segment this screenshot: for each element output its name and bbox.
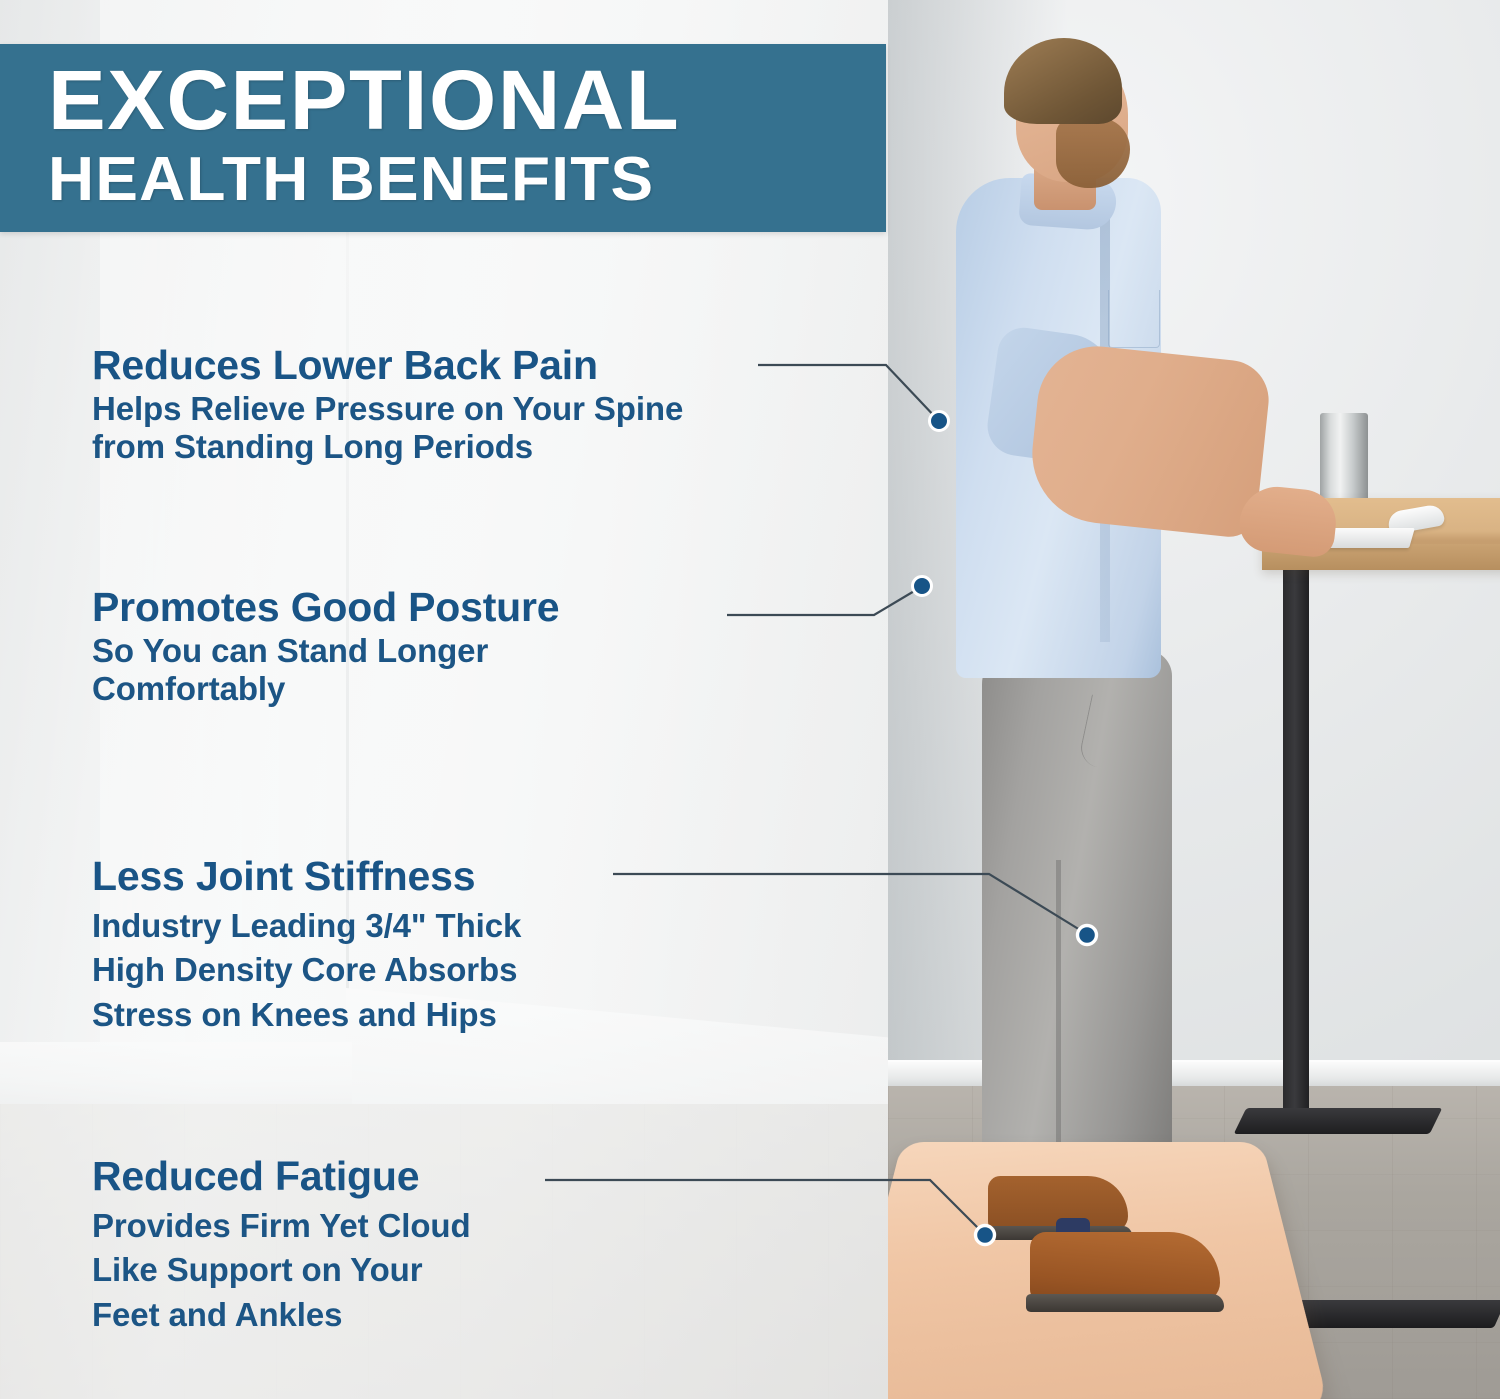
benefit-description-line: from Standing Long Periods xyxy=(92,428,683,467)
product-photo xyxy=(888,0,1500,1399)
banner-title-line1: EXCEPTIONAL xyxy=(48,61,911,140)
benefit-title: Less Joint Stiffness xyxy=(92,855,521,898)
header-banner: EXCEPTIONAL HEALTH BENEFITS xyxy=(0,44,886,232)
banner-title-line2: HEALTH BENEFITS xyxy=(48,149,911,211)
desk-leg-column xyxy=(1283,570,1309,1130)
pants-leg-seam xyxy=(1056,860,1061,1170)
front-shoe-sole xyxy=(1026,1294,1224,1312)
desk-foot-front xyxy=(1234,1108,1443,1134)
benefit-description-line: Stress on Knees and Hips xyxy=(92,993,521,1038)
steel-tumbler xyxy=(1320,413,1368,505)
benefit-description-line: Provides Firm Yet Cloud xyxy=(92,1204,471,1249)
benefit-block-reduced-fatigue: Reduced Fatigue Provides Firm Yet CloudL… xyxy=(92,1155,471,1337)
benefit-description: Helps Relieve Pressure on Your Spinefrom… xyxy=(92,390,683,467)
benefit-block-reduces-lower-back-pain: Reduces Lower Back Pain Helps Relieve Pr… xyxy=(92,344,683,467)
benefit-description: Provides Firm Yet CloudLike Support on Y… xyxy=(92,1204,471,1338)
benefit-description-line: Like Support on Your xyxy=(92,1248,471,1293)
benefit-title: Reduced Fatigue xyxy=(92,1155,471,1198)
benefit-description-line: So You can Stand Longer xyxy=(92,632,559,671)
benefit-description-line: Feet and Ankles xyxy=(92,1293,471,1338)
benefit-block-less-joint-stiffness: Less Joint Stiffness Industry Leading 3/… xyxy=(92,855,521,1037)
wireless-keyboard xyxy=(1323,528,1415,548)
shirt-pocket xyxy=(1108,290,1160,348)
forearm xyxy=(1025,340,1272,539)
benefit-description-line: High Density Core Absorbs xyxy=(92,948,521,993)
benefit-description-line: Helps Relieve Pressure on Your Spine xyxy=(92,390,683,429)
infographic-canvas: EXCEPTIONAL HEALTH BENEFITS Reduces Lowe… xyxy=(0,0,1500,1399)
benefit-description-line: Industry Leading 3/4" Thick xyxy=(92,904,521,949)
benefit-title: Reduces Lower Back Pain xyxy=(92,344,683,387)
front-shoe xyxy=(1030,1232,1220,1302)
benefit-title: Promotes Good Posture xyxy=(92,586,559,629)
benefit-description: Industry Leading 3/4" ThickHigh Density … xyxy=(92,904,521,1038)
benefit-block-promotes-good-posture: Promotes Good Posture So You can Stand L… xyxy=(92,586,559,709)
benefit-description: So You can Stand LongerComfortably xyxy=(92,632,559,709)
benefit-description-line: Comfortably xyxy=(92,670,559,709)
